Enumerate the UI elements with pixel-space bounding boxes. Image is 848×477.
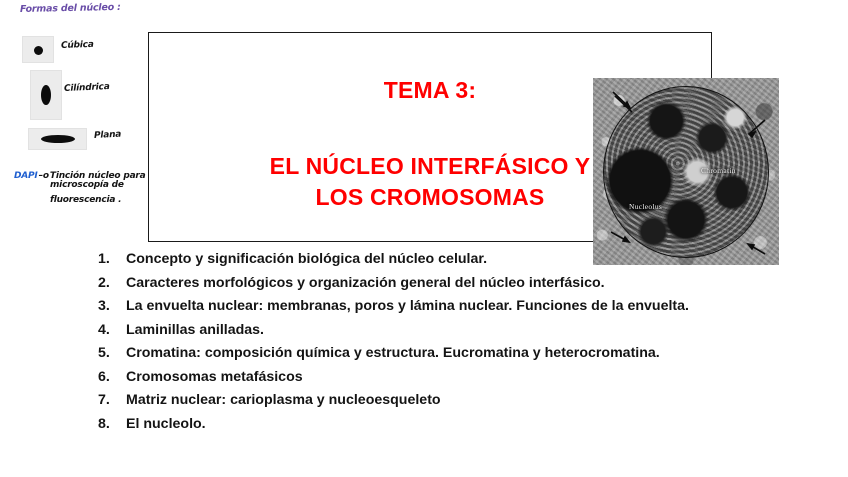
shape-swatch-cubica <box>22 36 54 63</box>
dapi-arrow-icon: –o <box>38 171 50 181</box>
nucleus-blob-cubica-icon <box>34 46 43 55</box>
shape-swatch-plana <box>28 128 87 150</box>
list-item-number: 1. <box>98 248 110 271</box>
list-item-text: La envuelta nuclear: membranas, poros y … <box>126 298 689 314</box>
notes-heading: Formas del núcleo : <box>20 2 121 15</box>
micrograph-label-chromatin: Chromatin <box>701 166 736 175</box>
list-item: 5. Cromatina: composición química y estr… <box>94 342 794 365</box>
dapi-line-3: fluorescencia . <box>50 195 121 205</box>
list-item-text: Laminillas anilladas. <box>126 322 264 338</box>
shape-label-plana: Plana <box>94 130 122 141</box>
list-item-number: 5. <box>98 342 110 365</box>
list-item: 7. Matriz nuclear: carioplasma y nucleoe… <box>94 389 794 412</box>
nucleus-electron-micrograph: Nucleolus Chromatin <box>593 78 779 265</box>
shape-label-cubica: Cúbica <box>61 40 94 51</box>
list-item-number: 2. <box>98 272 110 295</box>
list-item-number: 3. <box>98 295 110 318</box>
list-item-number: 7. <box>98 389 110 412</box>
list-item-text: El nucleolo. <box>126 416 206 432</box>
nucleus-blob-cilindrica-icon <box>41 85 51 105</box>
shape-swatch-cilindrica <box>30 70 62 120</box>
list-item: 4. Laminillas anilladas. <box>94 319 794 342</box>
list-item: 8. El nucleolo. <box>94 413 794 436</box>
list-item-text: Concepto y significación biológica del n… <box>126 251 487 267</box>
shape-label-cilindrica: Cilíndrica <box>64 82 110 94</box>
nucleus-blob-plana-icon <box>41 135 75 143</box>
list-item-text: Cromatina: composición química y estruct… <box>126 345 660 361</box>
dapi-term: DAPI <box>14 171 38 181</box>
list-item: 2. Caracteres morfológicos y organizació… <box>94 272 794 295</box>
list-item-text: Caracteres morfológicos y organización g… <box>126 275 605 291</box>
list-item: 1. Concepto y significación biológica de… <box>94 248 794 271</box>
dapi-line-2: microscopía de <box>50 180 124 190</box>
list-item-number: 6. <box>98 366 110 389</box>
contents-list: 1. Concepto y significación biológica de… <box>94 248 794 436</box>
handwritten-notes-panel: Formas del núcleo : Cúbica Cilíndrica Pl… <box>0 0 148 250</box>
list-item-number: 4. <box>98 319 110 342</box>
micrograph-pointer-arrows-icon <box>593 78 779 265</box>
micrograph-label-nucleolus: Nucleolus <box>629 202 662 211</box>
list-item: 6. Cromosomas metafásicos <box>94 366 794 389</box>
list-item-text: Matriz nuclear: carioplasma y nucleoesqu… <box>126 392 441 408</box>
dapi-note: DAPI–oTinción núcleo para microscopía de… <box>14 165 146 183</box>
list-item-number: 8. <box>98 413 110 436</box>
list-item: 3. La envuelta nuclear: membranas, poros… <box>94 295 794 318</box>
list-item-text: Cromosomas metafásicos <box>126 369 303 385</box>
